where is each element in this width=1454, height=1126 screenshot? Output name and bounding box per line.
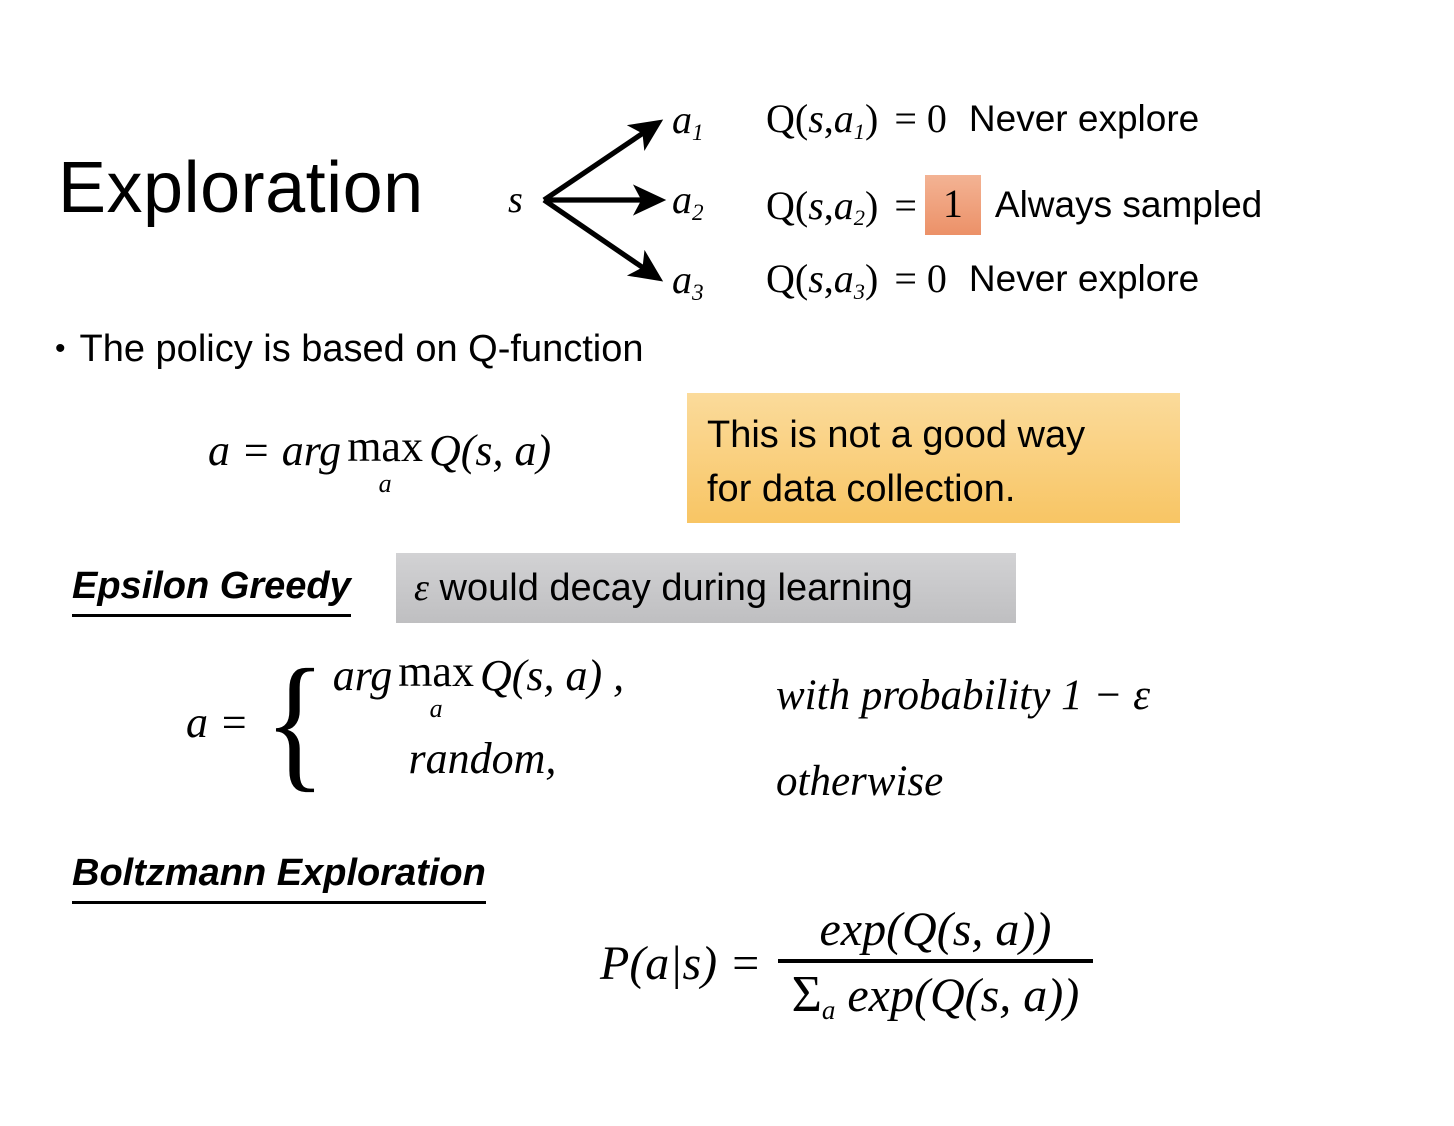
boltzmann-numerator: exp(Q(s, a))	[805, 900, 1065, 959]
page-title: Exploration	[58, 152, 424, 224]
piecewise-case1-suffix: Q(s, a) ,	[480, 650, 624, 701]
boltzmann-fraction: exp(Q(s, a)) Σa exp(Q(s, a))	[778, 900, 1094, 1026]
q-state-a2: s	[808, 183, 824, 228]
argmax-rhs: Q(s, a)	[429, 425, 551, 476]
q-state-a1: s	[808, 96, 824, 141]
bullet-marker-icon: •	[55, 332, 66, 365]
q-action-a2: a	[834, 183, 854, 228]
piecewise-brace: {	[264, 668, 325, 776]
boltzmann-denominator: Σa exp(Q(s, a))	[778, 963, 1094, 1026]
boltzmann-denominator-rest: exp(Q(s, a))	[835, 969, 1079, 1022]
action-label-a1: a1	[672, 96, 704, 143]
q-action-sub-a2: 2	[854, 205, 865, 230]
action-label-a3: a3	[672, 256, 704, 303]
q-action-a1: a	[834, 96, 854, 141]
epsilon-symbol: ε	[414, 567, 429, 609]
argmax-max-operator: max a	[347, 425, 423, 497]
piecewise-case-1: arg max a Q(s, a) ,	[333, 650, 624, 722]
q-action-sub-a1: 1	[854, 119, 865, 144]
piecewise-max-label: max	[398, 650, 474, 694]
q-row-a3: Q(s,a3) = 0 Never explore	[766, 255, 1199, 302]
argmax-policy-equation: a = arg max a Q(s, a)	[208, 425, 551, 497]
action-letter-a2: a	[672, 177, 692, 222]
q-action-sub-a3: 3	[854, 279, 865, 304]
q-row-a1: Q(s,a1) = 0 Never explore	[766, 95, 1199, 142]
epsilon-decay-note-rest: would decay during learning	[429, 567, 913, 609]
argmax-lhs: a = arg	[208, 425, 341, 476]
q-note-a1: Never explore	[969, 98, 1199, 140]
heading-epsilon-greedy: Epsilon Greedy	[72, 565, 351, 617]
epsilon-greedy-equation: a = { arg max a Q(s, a) , random,	[186, 650, 624, 794]
piecewise-case-2: random,	[333, 722, 624, 794]
q-comma-a2: ,	[824, 183, 834, 228]
q-comma-a1: ,	[824, 96, 834, 141]
callout-line-2: for data collection.	[707, 463, 1180, 517]
callout-box-data-collection: This is not a good way for data collecti…	[687, 393, 1180, 523]
bullet-text: The policy is based on Q-function	[80, 328, 644, 370]
action-sub-a3: 3	[692, 280, 704, 306]
action-letter-a1: a	[672, 97, 692, 142]
arrow-to-a1	[544, 123, 658, 200]
epsilon-decay-note-text: ε would decay during learning	[414, 566, 913, 610]
boltzmann-lhs: P(a|s) =	[600, 936, 762, 991]
q-equals-a2: =	[894, 182, 917, 229]
piecewise-max-operator: max a	[398, 650, 474, 722]
q-value-highlight-a2: 1	[925, 175, 981, 235]
q-suffix-a1: )	[865, 96, 878, 141]
q-row-a2: Q(s,a2) = 1 Always sampled	[766, 175, 1262, 235]
piecewise-cases: arg max a Q(s, a) , random,	[333, 650, 624, 794]
argmax-max-subscript: a	[379, 471, 392, 497]
q-equals-a3: =	[894, 255, 917, 302]
slide-canvas: Exploration s a1 a2 a3 Q(s,a1) = 0 Never…	[0, 0, 1454, 1126]
q-equals-a1: =	[894, 95, 917, 142]
q-value-a1: 0	[927, 95, 947, 142]
callout-line-1: This is not a good way	[707, 409, 1180, 463]
q-comma-a3: ,	[824, 256, 834, 301]
bullet-item-policy: •The policy is based on Q-function	[55, 328, 644, 371]
action-sub-a2: 2	[692, 200, 704, 226]
q-suffix-a2: )	[865, 183, 878, 228]
q-expression-a2: Q(s,a2)	[766, 182, 878, 229]
piecewise-case1-prefix: arg	[333, 650, 393, 701]
epsilon-decay-note-box: ε would decay during learning	[396, 553, 1016, 623]
state-label-s: s	[508, 178, 523, 222]
heading-epsilon-greedy-wrap: Epsilon Greedy	[72, 565, 351, 617]
heading-boltzmann-exploration: Boltzmann Exploration	[72, 852, 486, 904]
boltzmann-sigma-subscript: a	[822, 995, 836, 1025]
q-note-a2: Always sampled	[995, 184, 1262, 226]
q-note-a3: Never explore	[969, 258, 1199, 300]
action-sub-a1: 1	[692, 120, 704, 146]
q-prefix-a2: Q(	[766, 183, 808, 228]
epsilon-greedy-conditions: with probability 1 − ε otherwise	[776, 652, 1150, 824]
condition-with-probability: with probability 1 − ε	[776, 652, 1150, 738]
arrow-to-a3	[544, 200, 658, 278]
piecewise-max-subscript: a	[430, 696, 443, 722]
q-prefix-a3: Q(	[766, 256, 808, 301]
q-expression-a1: Q(s,a1)	[766, 95, 878, 142]
action-letter-a3: a	[672, 257, 692, 302]
argmax-max-label: max	[347, 425, 423, 469]
action-label-a2: a2	[672, 176, 704, 223]
heading-boltzmann-wrap: Boltzmann Exploration	[72, 852, 486, 904]
boltzmann-sigma-glyph: Σ	[792, 966, 822, 1023]
q-suffix-a3: )	[865, 256, 878, 301]
condition-otherwise: otherwise	[776, 738, 1150, 824]
piecewise-lhs: a =	[186, 697, 249, 748]
q-value-a3: 0	[927, 255, 947, 302]
boltzmann-equation: P(a|s) = exp(Q(s, a)) Σa exp(Q(s, a))	[600, 900, 1093, 1026]
q-expression-a3: Q(s,a3)	[766, 255, 878, 302]
boltzmann-sigma-icon: Σa	[792, 966, 836, 1023]
q-state-a3: s	[808, 256, 824, 301]
state-action-tree-arrows	[500, 90, 700, 320]
q-prefix-a1: Q(	[766, 96, 808, 141]
q-action-a3: a	[834, 256, 854, 301]
